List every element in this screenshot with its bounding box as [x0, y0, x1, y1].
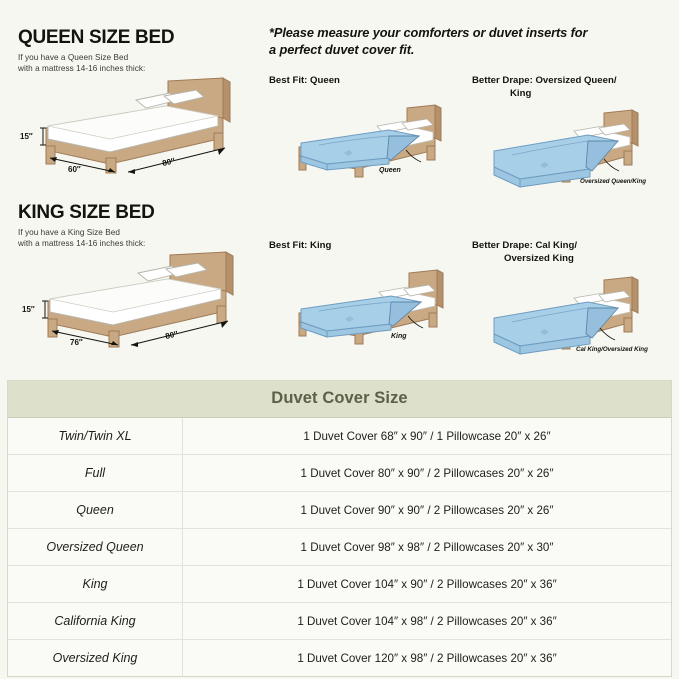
panel-title-line2: King: [472, 88, 531, 101]
table-row: Twin/Twin XL1 Duvet Cover 68″ x 90″ / 1 …: [8, 418, 671, 455]
panel-title-line1: Best Fit: Queen: [269, 75, 340, 86]
table-cell-size-name: Oversized Queen: [8, 529, 183, 565]
table-header-label: Duvet Cover Size: [271, 389, 407, 407]
panel-better-drape-cal-king-oversized-king: Better Drape: Cal King/ Oversized King: [472, 240, 677, 363]
callout-king: King: [391, 333, 407, 340]
panel-title-line1: Better Drape: Oversized Queen/: [472, 75, 617, 86]
panel-title-best-fit-king: Best Fit: King: [269, 240, 474, 253]
measure-note-line2: a perfect duvet cover fit.: [269, 42, 414, 57]
king-length-label: 80″: [164, 329, 179, 341]
table-row: King1 Duvet Cover 104″ x 90″ / 2 Pillowc…: [8, 566, 671, 603]
better-drape-cal-king-illustration: Cal King/Oversized King: [472, 268, 677, 363]
panel-best-fit-queen: Best Fit: Queen: [269, 75, 474, 185]
king-bed-illustration: 15″ 76″ 80″: [18, 251, 253, 351]
panel-title-line1: Best Fit: King: [269, 240, 331, 251]
table-cell-size-value: 1 Duvet Cover 80″ x 90″ / 2 Pillowcases …: [183, 455, 671, 491]
king-bed-title: KING SIZE BED: [18, 203, 258, 222]
table-cell-size-value: 1 Duvet Cover 98″ x 98″ / 2 Pillowcases …: [183, 529, 671, 565]
best-fit-king-illustration: King: [269, 255, 474, 350]
best-fit-queen-illustration: Queen: [269, 90, 474, 185]
queen-width-label: 60″: [68, 165, 81, 174]
table-row: Oversized King1 Duvet Cover 120″ x 98″ /…: [8, 640, 671, 676]
king-bed-block: KING SIZE BED If you have a King Size Be…: [18, 203, 258, 351]
panel-title-better-drape-ck: Better Drape: Cal King/ Oversized King: [472, 240, 677, 266]
table-cell-size-value: 1 Duvet Cover 120″ x 98″ / 2 Pillowcases…: [183, 640, 671, 676]
measure-note: *Please measure your comforters or duvet…: [269, 25, 674, 59]
table-cell-size-value: 1 Duvet Cover 104″ x 98″ / 2 Pillowcases…: [183, 603, 671, 639]
panel-title-line2: Oversized King: [472, 253, 574, 266]
better-drape-oversized-queen-illustration: Oversized Queen/King: [472, 103, 677, 198]
queen-bed-subtitle-line2: with a mattress 14-16 inches thick:: [18, 63, 258, 74]
callout-oversized-queen-king: Oversized Queen/King: [580, 178, 646, 185]
table-body: Twin/Twin XL1 Duvet Cover 68″ x 90″ / 1 …: [8, 418, 671, 676]
table-row: Oversized Queen1 Duvet Cover 98″ x 98″ /…: [8, 529, 671, 566]
queen-bed-subtitle-line1: If you have a Queen Size Bed: [18, 52, 258, 63]
table-row: Full1 Duvet Cover 80″ x 90″ / 2 Pillowca…: [8, 455, 671, 492]
king-bed-subtitle-line2: with a mattress 14-16 inches thick:: [18, 238, 258, 249]
table-cell-size-name: Full: [8, 455, 183, 491]
table-cell-size-name: King: [8, 566, 183, 602]
duvet-fit-section: *Please measure your comforters or duvet…: [264, 0, 679, 372]
panel-better-drape-oversized-queen-king: Better Drape: Oversized Queen/ King: [472, 75, 677, 198]
table-cell-size-name: California King: [8, 603, 183, 639]
king-width-label: 76″: [70, 338, 83, 347]
table-row: California King1 Duvet Cover 104″ x 98″ …: [8, 603, 671, 640]
duvet-cover-size-table: Duvet Cover Size Twin/Twin XL1 Duvet Cov…: [7, 380, 672, 677]
queen-bed-illustration: 15″ 60″ 80″: [18, 76, 253, 176]
panel-title-best-fit-queen: Best Fit: Queen: [269, 75, 474, 88]
table-cell-size-value: 1 Duvet Cover 104″ x 90″ / 2 Pillowcases…: [183, 566, 671, 602]
panel-title-better-drape-oq: Better Drape: Oversized Queen/ King: [472, 75, 677, 101]
callout-cal-king-oversized-king: Cal King/Oversized King: [576, 346, 648, 353]
duvet-size-guide-page: QUEEN SIZE BED If you have a Queen Size …: [0, 0, 679, 679]
table-cell-size-name: Queen: [8, 492, 183, 528]
table-header: Duvet Cover Size: [8, 381, 671, 418]
panel-best-fit-king: Best Fit: King: [269, 240, 474, 350]
king-height-label: 15″: [22, 305, 35, 314]
king-bed-subtitle-line1: If you have a King Size Bed: [18, 227, 258, 238]
table-cell-size-name: Oversized King: [8, 640, 183, 676]
panel-title-line1: Better Drape: Cal King/: [472, 240, 577, 251]
bed-size-section: QUEEN SIZE BED If you have a Queen Size …: [0, 0, 258, 372]
table-row: Queen1 Duvet Cover 90″ x 90″ / 2 Pillowc…: [8, 492, 671, 529]
table-cell-size-name: Twin/Twin XL: [8, 418, 183, 454]
queen-height-label: 15″: [20, 132, 33, 141]
queen-length-label: 80″: [161, 156, 176, 168]
measure-note-line1: *Please measure your comforters or duvet…: [269, 25, 587, 40]
callout-queen: Queen: [379, 167, 401, 174]
queen-bed-block: QUEEN SIZE BED If you have a Queen Size …: [18, 28, 258, 176]
queen-bed-title: QUEEN SIZE BED: [18, 28, 258, 47]
table-cell-size-value: 1 Duvet Cover 68″ x 90″ / 1 Pillowcase 2…: [183, 418, 671, 454]
table-cell-size-value: 1 Duvet Cover 90″ x 90″ / 2 Pillowcases …: [183, 492, 671, 528]
